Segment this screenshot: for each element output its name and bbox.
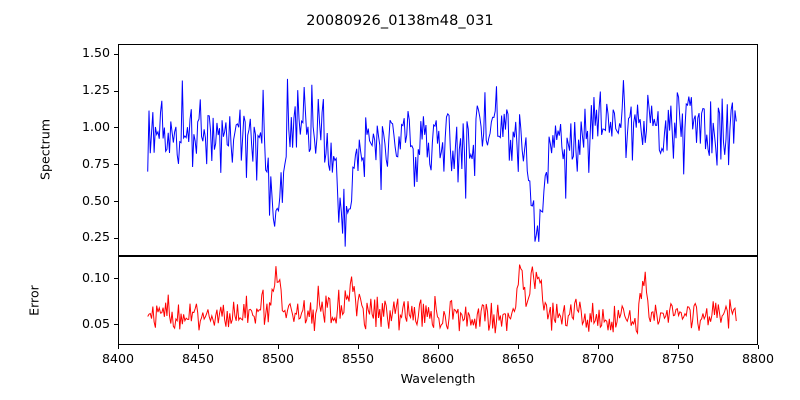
y-tick-spectrum-mark <box>114 91 118 92</box>
error-trace <box>119 257 757 344</box>
x-tick-label: 8550 <box>318 351 398 366</box>
x-tick-mark <box>598 345 599 349</box>
x-axis-label: Wavelength <box>118 371 758 386</box>
x-tick-label: 8600 <box>398 351 478 366</box>
x-tick-mark <box>758 345 759 349</box>
x-tick-mark <box>358 345 359 349</box>
y-tick-spectrum-label: 0.25 <box>24 229 110 244</box>
spectrum-panel <box>118 44 758 256</box>
x-tick-label: 8650 <box>478 351 558 366</box>
y-axis-label-error: Error <box>27 271 42 331</box>
y-tick-error-mark <box>114 278 118 279</box>
x-tick-mark <box>438 345 439 349</box>
x-tick-label: 8500 <box>238 351 318 366</box>
y-tick-error-mark <box>114 324 118 325</box>
spectrum-trace <box>119 45 757 255</box>
y-tick-spectrum-mark <box>114 127 118 128</box>
y-tick-spectrum-mark <box>114 238 118 239</box>
x-tick-mark <box>518 345 519 349</box>
x-tick-label: 8800 <box>718 351 798 366</box>
y-tick-spectrum-mark <box>114 201 118 202</box>
y-tick-spectrum-mark <box>114 164 118 165</box>
spectrum-figure: 20080926_0138m48_031 8400845085008550860… <box>0 0 800 400</box>
error-panel <box>118 256 758 345</box>
x-tick-mark <box>118 345 119 349</box>
x-tick-label: 8450 <box>158 351 238 366</box>
x-tick-label: 8750 <box>638 351 718 366</box>
x-tick-label: 8700 <box>558 351 638 366</box>
x-tick-label: 8400 <box>78 351 158 366</box>
y-axis-label-spectrum: Spectrum <box>38 100 53 200</box>
figure-title: 20080926_0138m48_031 <box>0 13 800 29</box>
y-tick-spectrum-mark <box>114 54 118 55</box>
y-tick-spectrum-label: 1.25 <box>24 82 110 97</box>
y-tick-spectrum-label: 1.50 <box>24 45 110 60</box>
x-tick-mark <box>198 345 199 349</box>
x-tick-mark <box>678 345 679 349</box>
x-tick-mark <box>278 345 279 349</box>
